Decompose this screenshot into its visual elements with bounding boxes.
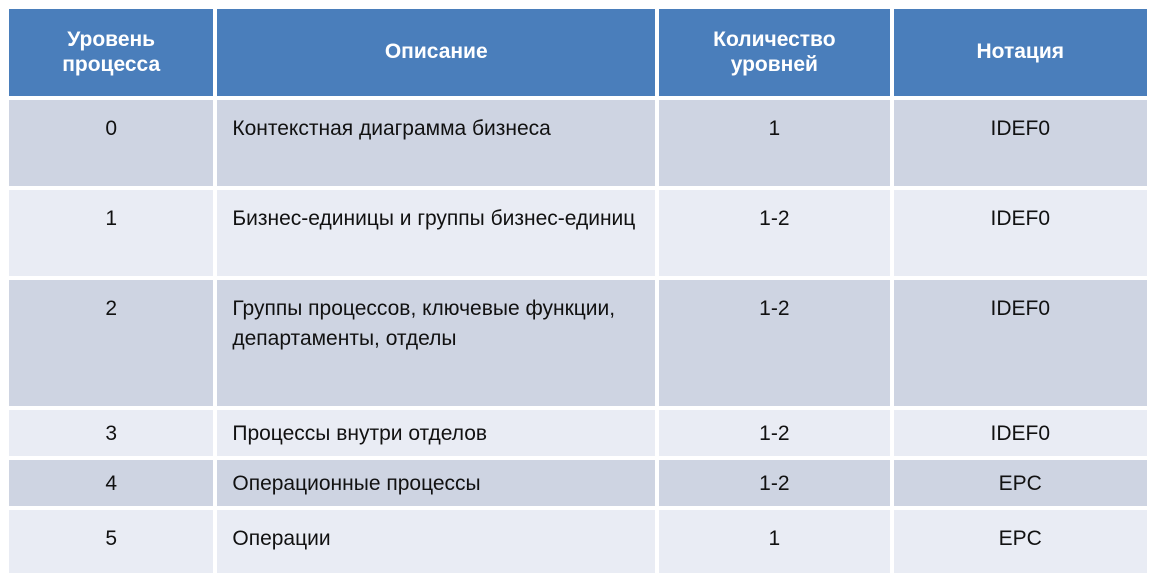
cell-notation-text: IDEF0: [894, 280, 1147, 324]
cell-notation: IDEF0: [894, 410, 1147, 456]
cell-notation: EPC: [894, 460, 1147, 506]
cell-level-count-text: 1-2: [659, 190, 889, 234]
cell-description: Группы процессов, ключевые функции, депа…: [217, 280, 655, 406]
cell-process-level: 5: [9, 510, 213, 573]
table-row: 3Процессы внутри отделов1-2IDEF0: [9, 410, 1147, 456]
cell-level-count: 1-2: [659, 460, 889, 506]
cell-notation-text: EPC: [894, 460, 1147, 499]
table-row: 5Операции1EPC: [9, 510, 1147, 573]
cell-level-count-text: 1: [659, 510, 889, 554]
cell-process-level: 1: [9, 190, 213, 276]
cell-process-level-text: 1: [9, 190, 213, 234]
cell-description: Контекстная диаграмма бизнеса: [217, 100, 655, 186]
cell-notation-text: IDEF0: [894, 190, 1147, 234]
cell-level-count-text: 1: [659, 100, 889, 144]
cell-level-count: 1-2: [659, 410, 889, 456]
cell-level-count: 1-2: [659, 190, 889, 276]
cell-notation-text: EPC: [894, 510, 1147, 554]
cell-notation: EPC: [894, 510, 1147, 573]
cell-description-text: Операционные процессы: [232, 460, 645, 499]
cell-description-text: Операции: [232, 510, 645, 554]
table-body: 0Контекстная диаграмма бизнеса1IDEF01Биз…: [9, 100, 1147, 573]
cell-notation: IDEF0: [894, 280, 1147, 406]
table-row: 0Контекстная диаграмма бизнеса1IDEF0: [9, 100, 1147, 186]
cell-level-count: 1-2: [659, 280, 889, 406]
cell-notation-text: IDEF0: [894, 410, 1147, 449]
cell-process-level: 0: [9, 100, 213, 186]
table-row: 1Бизнес-единицы и группы бизнес-единиц1-…: [9, 190, 1147, 276]
cell-description: Операционные процессы: [217, 460, 655, 506]
cell-description-text: Бизнес-единицы и группы бизнес-единиц: [232, 190, 645, 234]
cell-process-level-text: 5: [9, 510, 213, 554]
cell-notation-text: IDEF0: [894, 100, 1147, 144]
cell-process-level: 4: [9, 460, 213, 506]
cell-process-level-text: 2: [9, 280, 213, 324]
cell-process-level-text: 0: [9, 100, 213, 144]
cell-level-count: 1: [659, 510, 889, 573]
column-header-description: Описание: [217, 9, 655, 96]
cell-process-level: 2: [9, 280, 213, 406]
cell-level-count-text: 1-2: [659, 460, 889, 499]
process-levels-table: Уровень процесса Описание Количество уро…: [5, 5, 1151, 577]
cell-notation: IDEF0: [894, 100, 1147, 186]
table-header-row: Уровень процесса Описание Количество уро…: [9, 9, 1147, 96]
table-header: Уровень процесса Описание Количество уро…: [9, 9, 1147, 96]
cell-description: Операции: [217, 510, 655, 573]
cell-description-text: Группы процессов, ключевые функции, депа…: [232, 280, 645, 354]
cell-process-level-text: 3: [9, 410, 213, 449]
column-header-count: Количество уровней: [659, 9, 889, 96]
cell-description: Процессы внутри отделов: [217, 410, 655, 456]
column-header-level: Уровень процесса: [9, 9, 213, 96]
cell-level-count-text: 1-2: [659, 410, 889, 449]
process-levels-table-container: Уровень процесса Описание Количество уро…: [9, 9, 1147, 574]
table-row: 4Операционные процессы1-2EPC: [9, 460, 1147, 506]
cell-level-count: 1: [659, 100, 889, 186]
cell-description-text: Процессы внутри отделов: [232, 410, 645, 449]
cell-description-text: Контекстная диаграмма бизнеса: [232, 100, 645, 144]
cell-description: Бизнес-единицы и группы бизнес-единиц: [217, 190, 655, 276]
table-row: 2Группы процессов, ключевые функции, деп…: [9, 280, 1147, 406]
cell-level-count-text: 1-2: [659, 280, 889, 324]
cell-process-level: 3: [9, 410, 213, 456]
cell-process-level-text: 4: [9, 460, 213, 499]
column-header-notation: Нотация: [894, 9, 1147, 96]
cell-notation: IDEF0: [894, 190, 1147, 276]
